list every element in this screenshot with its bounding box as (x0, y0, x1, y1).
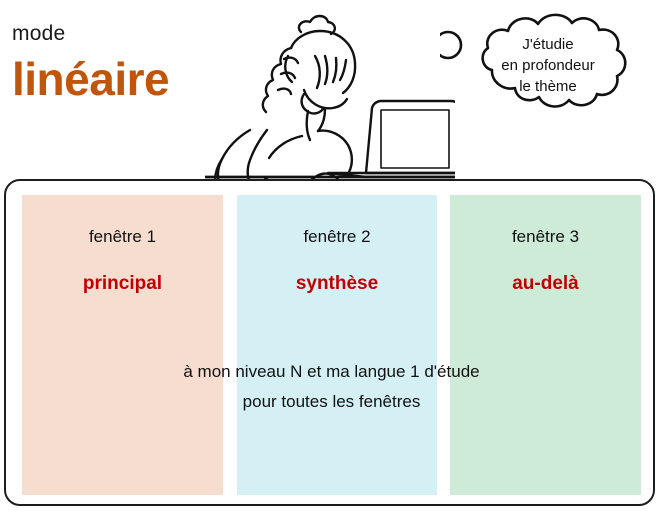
window-column-3[interactable]: fenêtre 3 au-delà (450, 195, 641, 495)
thought-line-2: en profondeur (468, 55, 628, 76)
mode-label: mode (12, 22, 232, 46)
thought-line-1: J'étudie (468, 34, 628, 55)
window-2-head: fenêtre 2 (237, 227, 437, 247)
window-3-value: au-delà (450, 273, 641, 295)
window-1-head: fenêtre 1 (22, 227, 223, 247)
person-studying-illustration (205, 4, 455, 182)
window-1-value: principal (22, 273, 223, 295)
header-block: mode linéaire (12, 22, 232, 104)
thought-bubble-text: J'étudie en profondeur le thème (468, 34, 628, 97)
windows-card: fenêtre 1 principal fenêtre 2 synthèse f… (4, 179, 655, 506)
thought-line-3: le thème (468, 76, 628, 97)
mode-value: linéaire (12, 54, 232, 104)
window-3-head: fenêtre 3 (450, 227, 641, 247)
window-column-2[interactable]: fenêtre 2 synthèse (237, 195, 437, 495)
window-2-value: synthèse (237, 273, 437, 295)
person-laptop-icon (205, 4, 455, 182)
window-column-1[interactable]: fenêtre 1 principal (22, 195, 223, 495)
slide-canvas: mode linéaire (0, 0, 659, 517)
